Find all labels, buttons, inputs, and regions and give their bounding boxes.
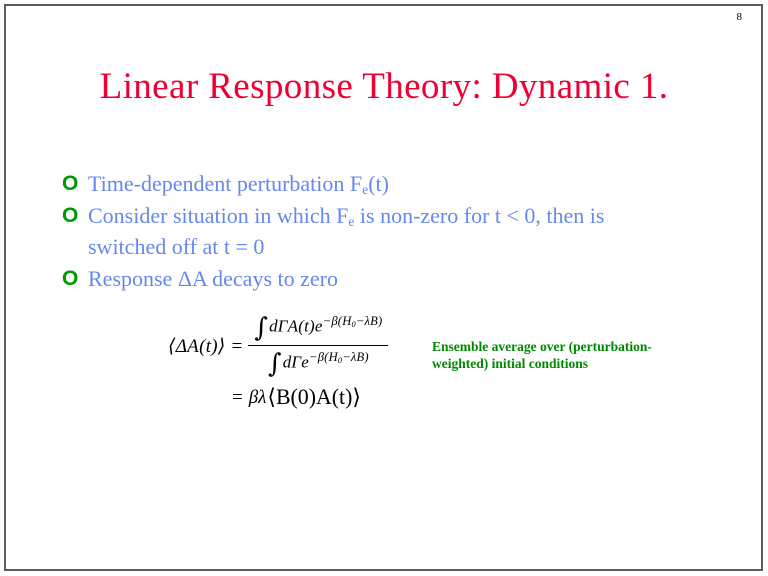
measure-dgamma: dΓ [283, 353, 302, 372]
equation-line-2: = βλ ⟨B(0)A(t)⟩ [168, 385, 388, 410]
circle-bullet-icon: O [62, 263, 88, 294]
annotation-note: Ensemble average over (perturbation- wei… [432, 338, 737, 372]
exponent-prefix: −β(H [323, 314, 352, 328]
list-item-text-part: Consider situation in which F [88, 203, 348, 228]
list-item-text: Time-dependent perturbation Fe(t) [88, 168, 722, 199]
bullet-list: O Time-dependent perturbation Fe(t) O Co… [62, 168, 722, 295]
equals-sign: = [226, 336, 249, 358]
page-number: 8 [737, 12, 743, 23]
list-item-text: Consider situation in which Fe is non-ze… [88, 200, 722, 262]
integral-icon: ∫ [254, 313, 269, 343]
list-item: O Consider situation in which Fe is non-… [62, 200, 722, 262]
list-item: O Time-dependent perturbation Fe(t) [62, 168, 722, 199]
exponent-suffix: −λB) [356, 314, 383, 328]
annotation-line-1: Ensemble average over (perturbation- [432, 338, 737, 355]
exp-base: e [315, 317, 323, 336]
page-title: Linear Response Theory: Dynamic 1. [0, 68, 768, 107]
prefactor-beta-lambda: βλ [249, 387, 267, 409]
exponent-prefix: −β(H [309, 350, 338, 364]
equation-line-1: ⟨ΔA(t)⟩ = ∫dΓA(t)e−β(H0−λB) ∫dΓe−β(H0−λB… [168, 312, 388, 381]
equation-block: ⟨ΔA(t)⟩ = ∫dΓA(t)e−β(H0−λB) ∫dΓe−β(H0−λB… [168, 312, 388, 410]
circle-bullet-icon: O [62, 168, 88, 199]
correlator: ⟨B(0)A(t)⟩ [266, 385, 361, 410]
measure-dgamma: dΓ [269, 317, 288, 336]
fraction-numerator: ∫dΓA(t)e−β(H0−λB) [248, 312, 388, 345]
circle-bullet-icon: O [62, 200, 88, 231]
fraction-denominator: ∫dΓe−β(H0−λB) [262, 346, 375, 381]
equals-sign: = [226, 387, 249, 409]
list-item-text: Response ΔA decays to zero [88, 263, 722, 294]
list-item-text-part: Time-dependent perturbation F [88, 171, 362, 196]
exponent-suffix: −λB) [342, 350, 369, 364]
exp-base: e [301, 353, 309, 372]
list-item-text-tail: (t) [368, 171, 389, 196]
exponent: −β(H0−λB) [323, 314, 383, 328]
annotation-line-2: weighted) initial conditions [432, 355, 737, 372]
observable-a-of-t: A(t) [288, 317, 315, 336]
slide: 8 Linear Response Theory: Dynamic 1. O T… [0, 0, 768, 576]
list-item-text-part: Response ΔA decays to zero [88, 266, 338, 291]
list-item: O Response ΔA decays to zero [62, 263, 722, 294]
fraction: ∫dΓA(t)e−β(H0−λB) ∫dΓe−β(H0−λB) [248, 312, 388, 381]
exponent: −β(H0−λB) [309, 350, 369, 364]
equation-lhs: ⟨ΔA(t)⟩ [168, 335, 226, 358]
integral-icon: ∫ [268, 349, 283, 379]
